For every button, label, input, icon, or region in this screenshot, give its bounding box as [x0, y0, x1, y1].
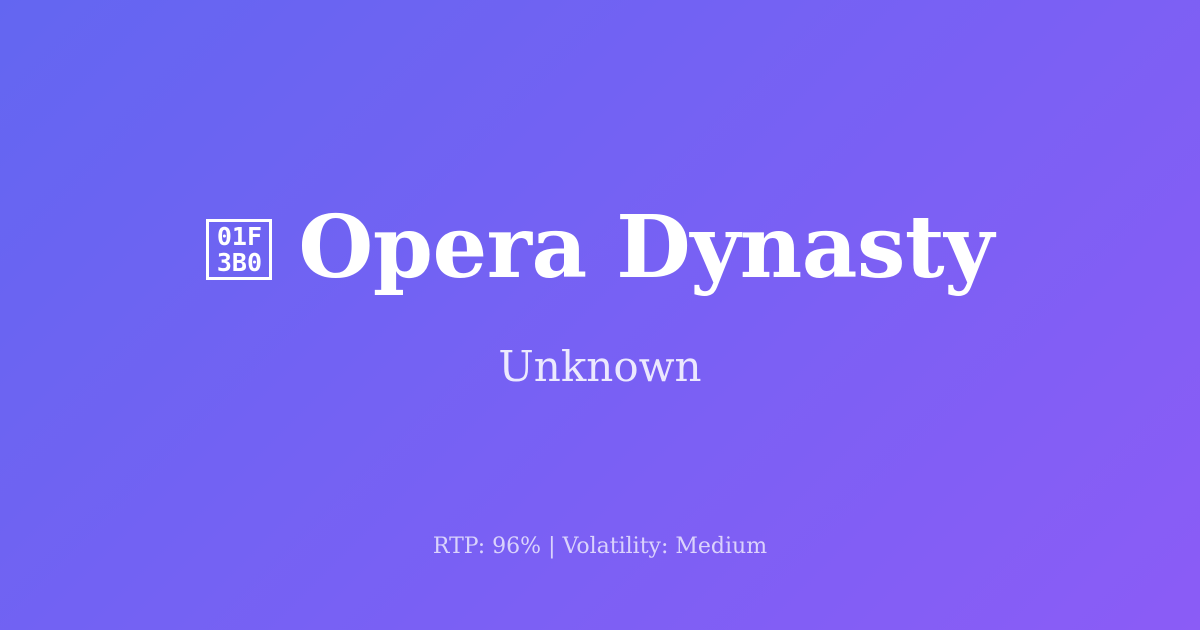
game-stats: RTP: 96% | Volatility: Medium: [0, 534, 1200, 560]
tofu-codepoint-bottom: 3B0: [217, 250, 262, 276]
title-row: 01F 3B0 Opera Dynasty: [206, 204, 993, 292]
game-provider: Unknown: [498, 344, 701, 390]
slot-machine-icon: 01F 3B0: [206, 219, 272, 280]
game-og-card: 01F 3B0 Opera Dynasty Unknown RTP: 96% |…: [0, 0, 1200, 630]
page-title: Opera Dynasty: [298, 204, 993, 292]
tofu-codepoint-top: 01F: [217, 224, 262, 250]
